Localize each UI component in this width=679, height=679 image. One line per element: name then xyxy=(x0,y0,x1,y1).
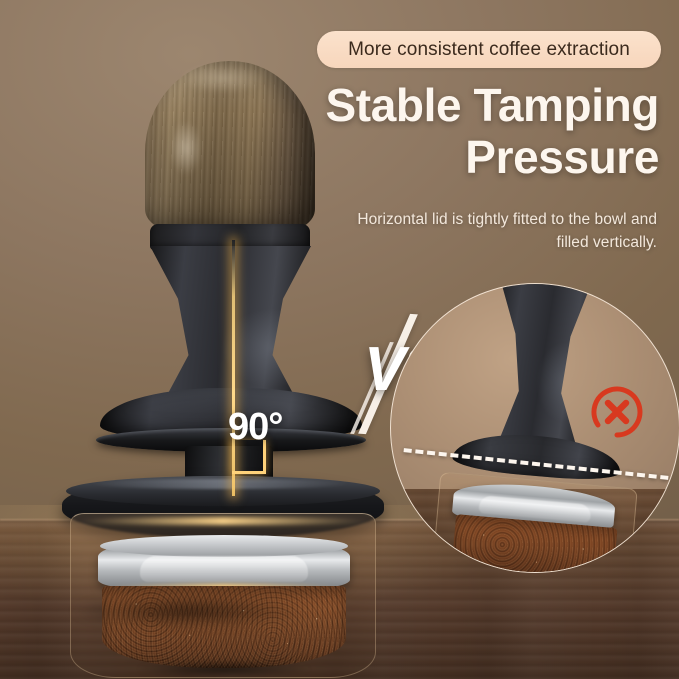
flange-disc-highlight xyxy=(90,479,350,489)
angle-label: 90° xyxy=(228,406,282,449)
knob-top-highlight xyxy=(169,65,289,99)
tamper-drop-shadow xyxy=(24,588,354,634)
product-feature-image: More consistent coffee extraction Stable… xyxy=(0,0,679,679)
main-tamper-illustration xyxy=(40,58,370,628)
feature-badge-label: More consistent coffee extraction xyxy=(348,39,630,61)
knob-side-highlight xyxy=(163,109,209,187)
wooden-knob xyxy=(145,61,315,231)
silver-base-top xyxy=(100,535,348,557)
dosing-cup-rim-glow xyxy=(76,517,370,525)
error-x-icon xyxy=(586,381,648,443)
subtitle-text: Horizontal lid is tightly fitted to the … xyxy=(357,208,657,255)
silver-base-notch xyxy=(140,556,308,582)
coffee-puck-shadow xyxy=(106,658,342,679)
